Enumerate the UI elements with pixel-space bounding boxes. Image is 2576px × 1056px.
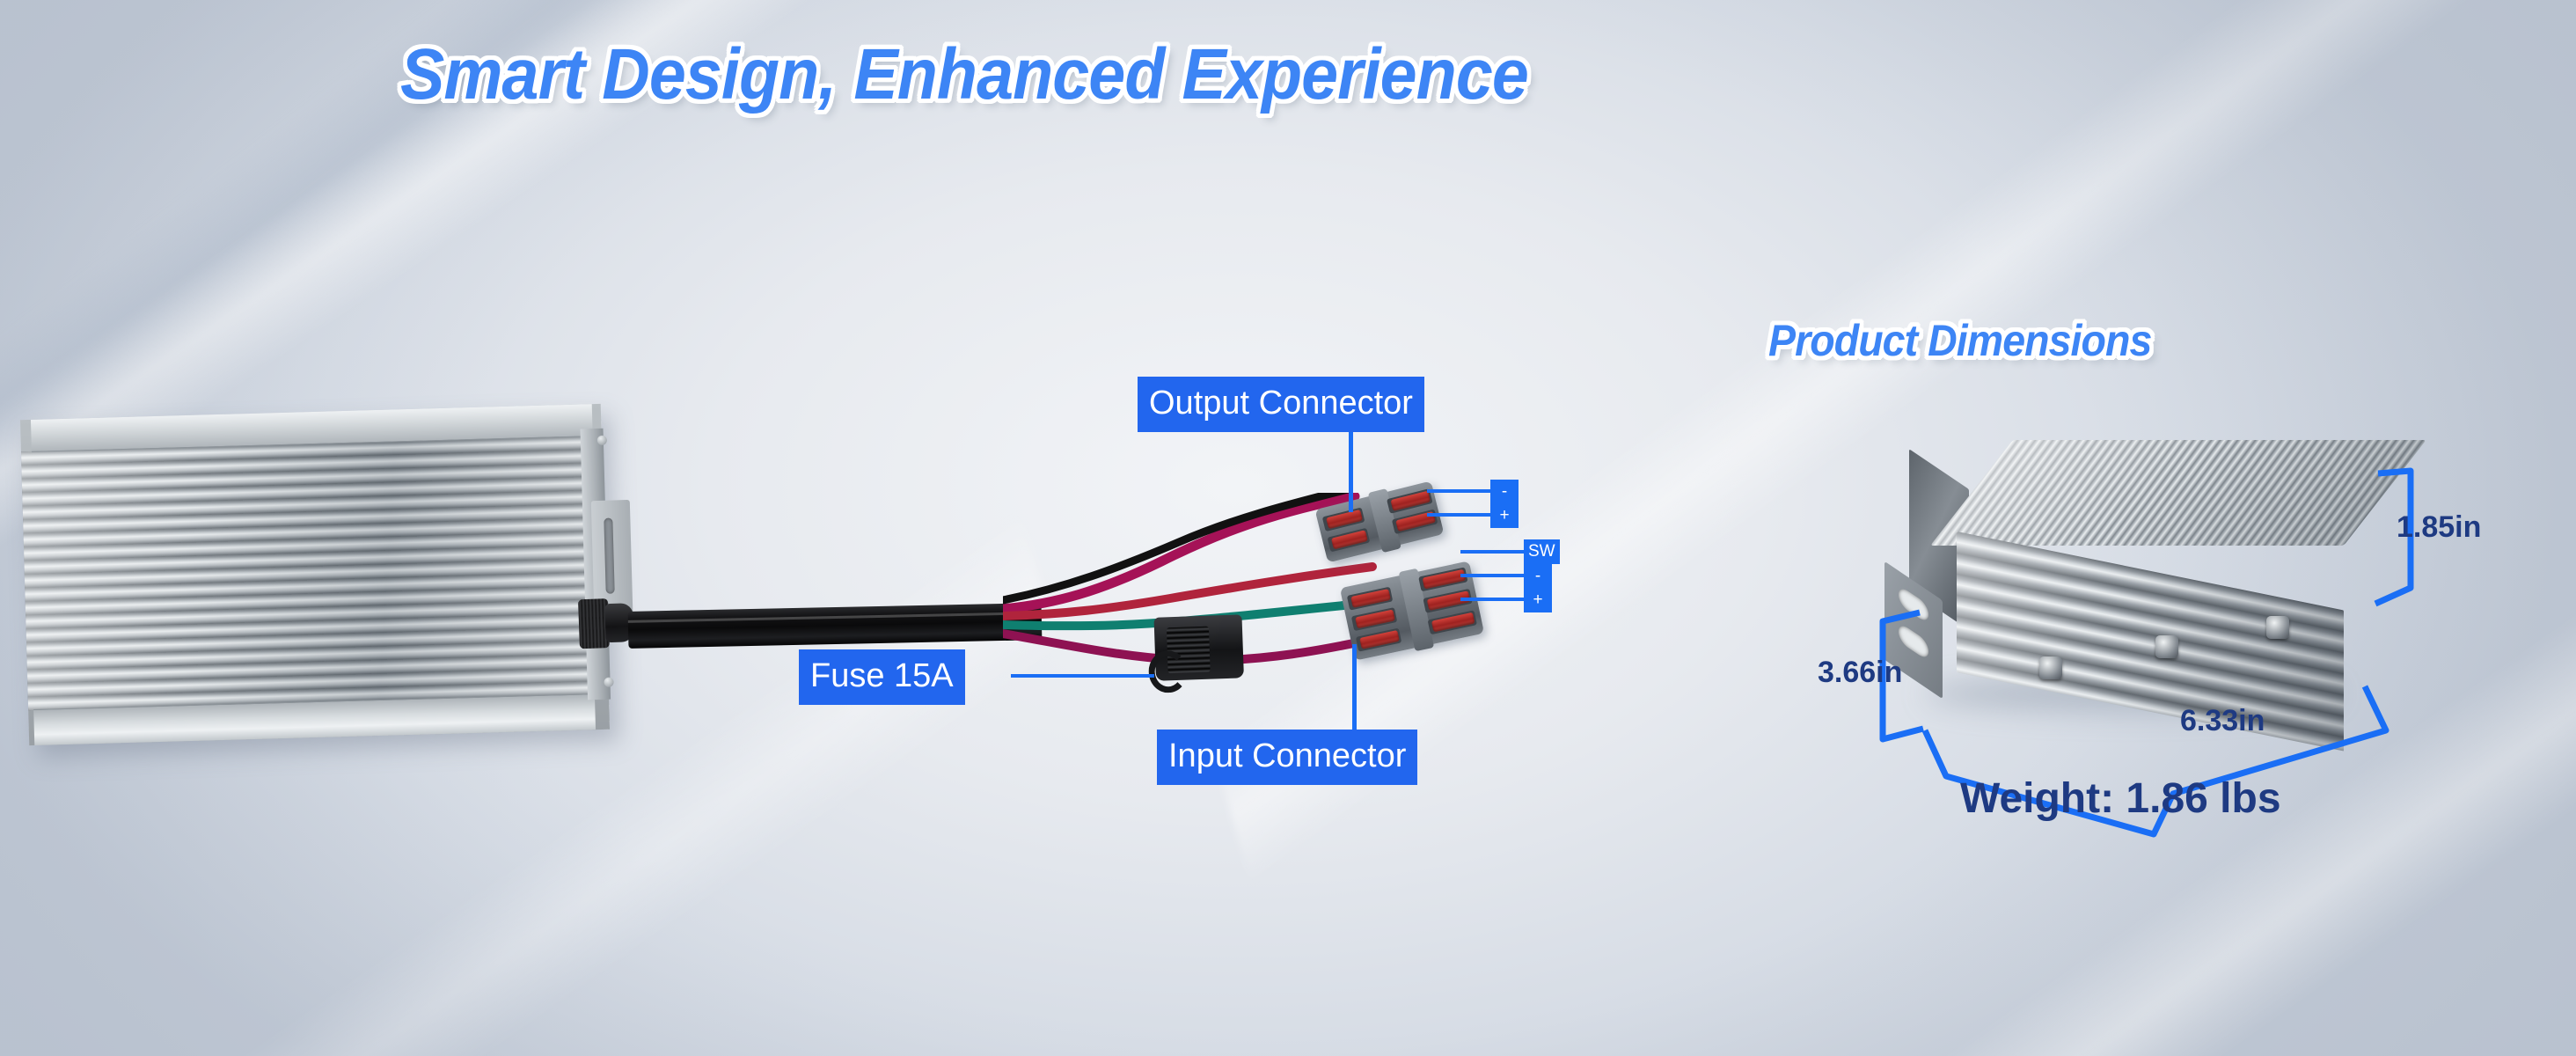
promo-banner: Smart Design, Enhanced Experience xyxy=(0,0,2576,1056)
input-sw-leader xyxy=(1460,550,1527,554)
wire-magenta-upper xyxy=(1003,496,1355,609)
input-positive-leader xyxy=(1460,598,1527,601)
page-title: Smart Design, Enhanced Experience xyxy=(400,33,1528,116)
badge-output-negative: - xyxy=(1490,480,1519,504)
badge-input-negative: - xyxy=(1524,564,1552,589)
output-connector-label: Output Connector xyxy=(1138,377,1424,432)
fuse-callout-line xyxy=(1011,674,1154,678)
heatsink-fins xyxy=(21,436,609,710)
fuse-loop xyxy=(1148,650,1189,694)
output-positive-leader xyxy=(1427,513,1494,517)
badge-output-positive: + xyxy=(1490,503,1519,528)
fuse-label: Fuse 15A xyxy=(799,649,965,705)
input-callout-line xyxy=(1352,644,1357,739)
product-heatsink-front-view xyxy=(20,404,610,745)
badge-input-positive: + xyxy=(1524,588,1552,612)
dimension-depth-label: 3.66in xyxy=(1818,656,1902,690)
screw-icon xyxy=(597,436,607,445)
dimension-height-label: 1.85in xyxy=(2397,510,2481,545)
screw-icon xyxy=(604,678,613,687)
input-connector-label: Input Connector xyxy=(1157,730,1417,785)
inline-fuse-holder xyxy=(1147,614,1254,695)
dimension-length-label: 6.33in xyxy=(2180,704,2265,738)
output-callout-line xyxy=(1349,421,1353,512)
main-cable-sheath xyxy=(628,603,1043,649)
dimensions-title: Product Dimensions xyxy=(1768,315,2151,366)
badge-input-sw: SW xyxy=(1524,539,1560,564)
product-weight-label: Weight: 1.86 lbs xyxy=(1960,774,2281,823)
input-negative-leader xyxy=(1460,574,1527,577)
output-negative-leader xyxy=(1427,489,1494,493)
dimension-brackets xyxy=(1795,440,2463,827)
